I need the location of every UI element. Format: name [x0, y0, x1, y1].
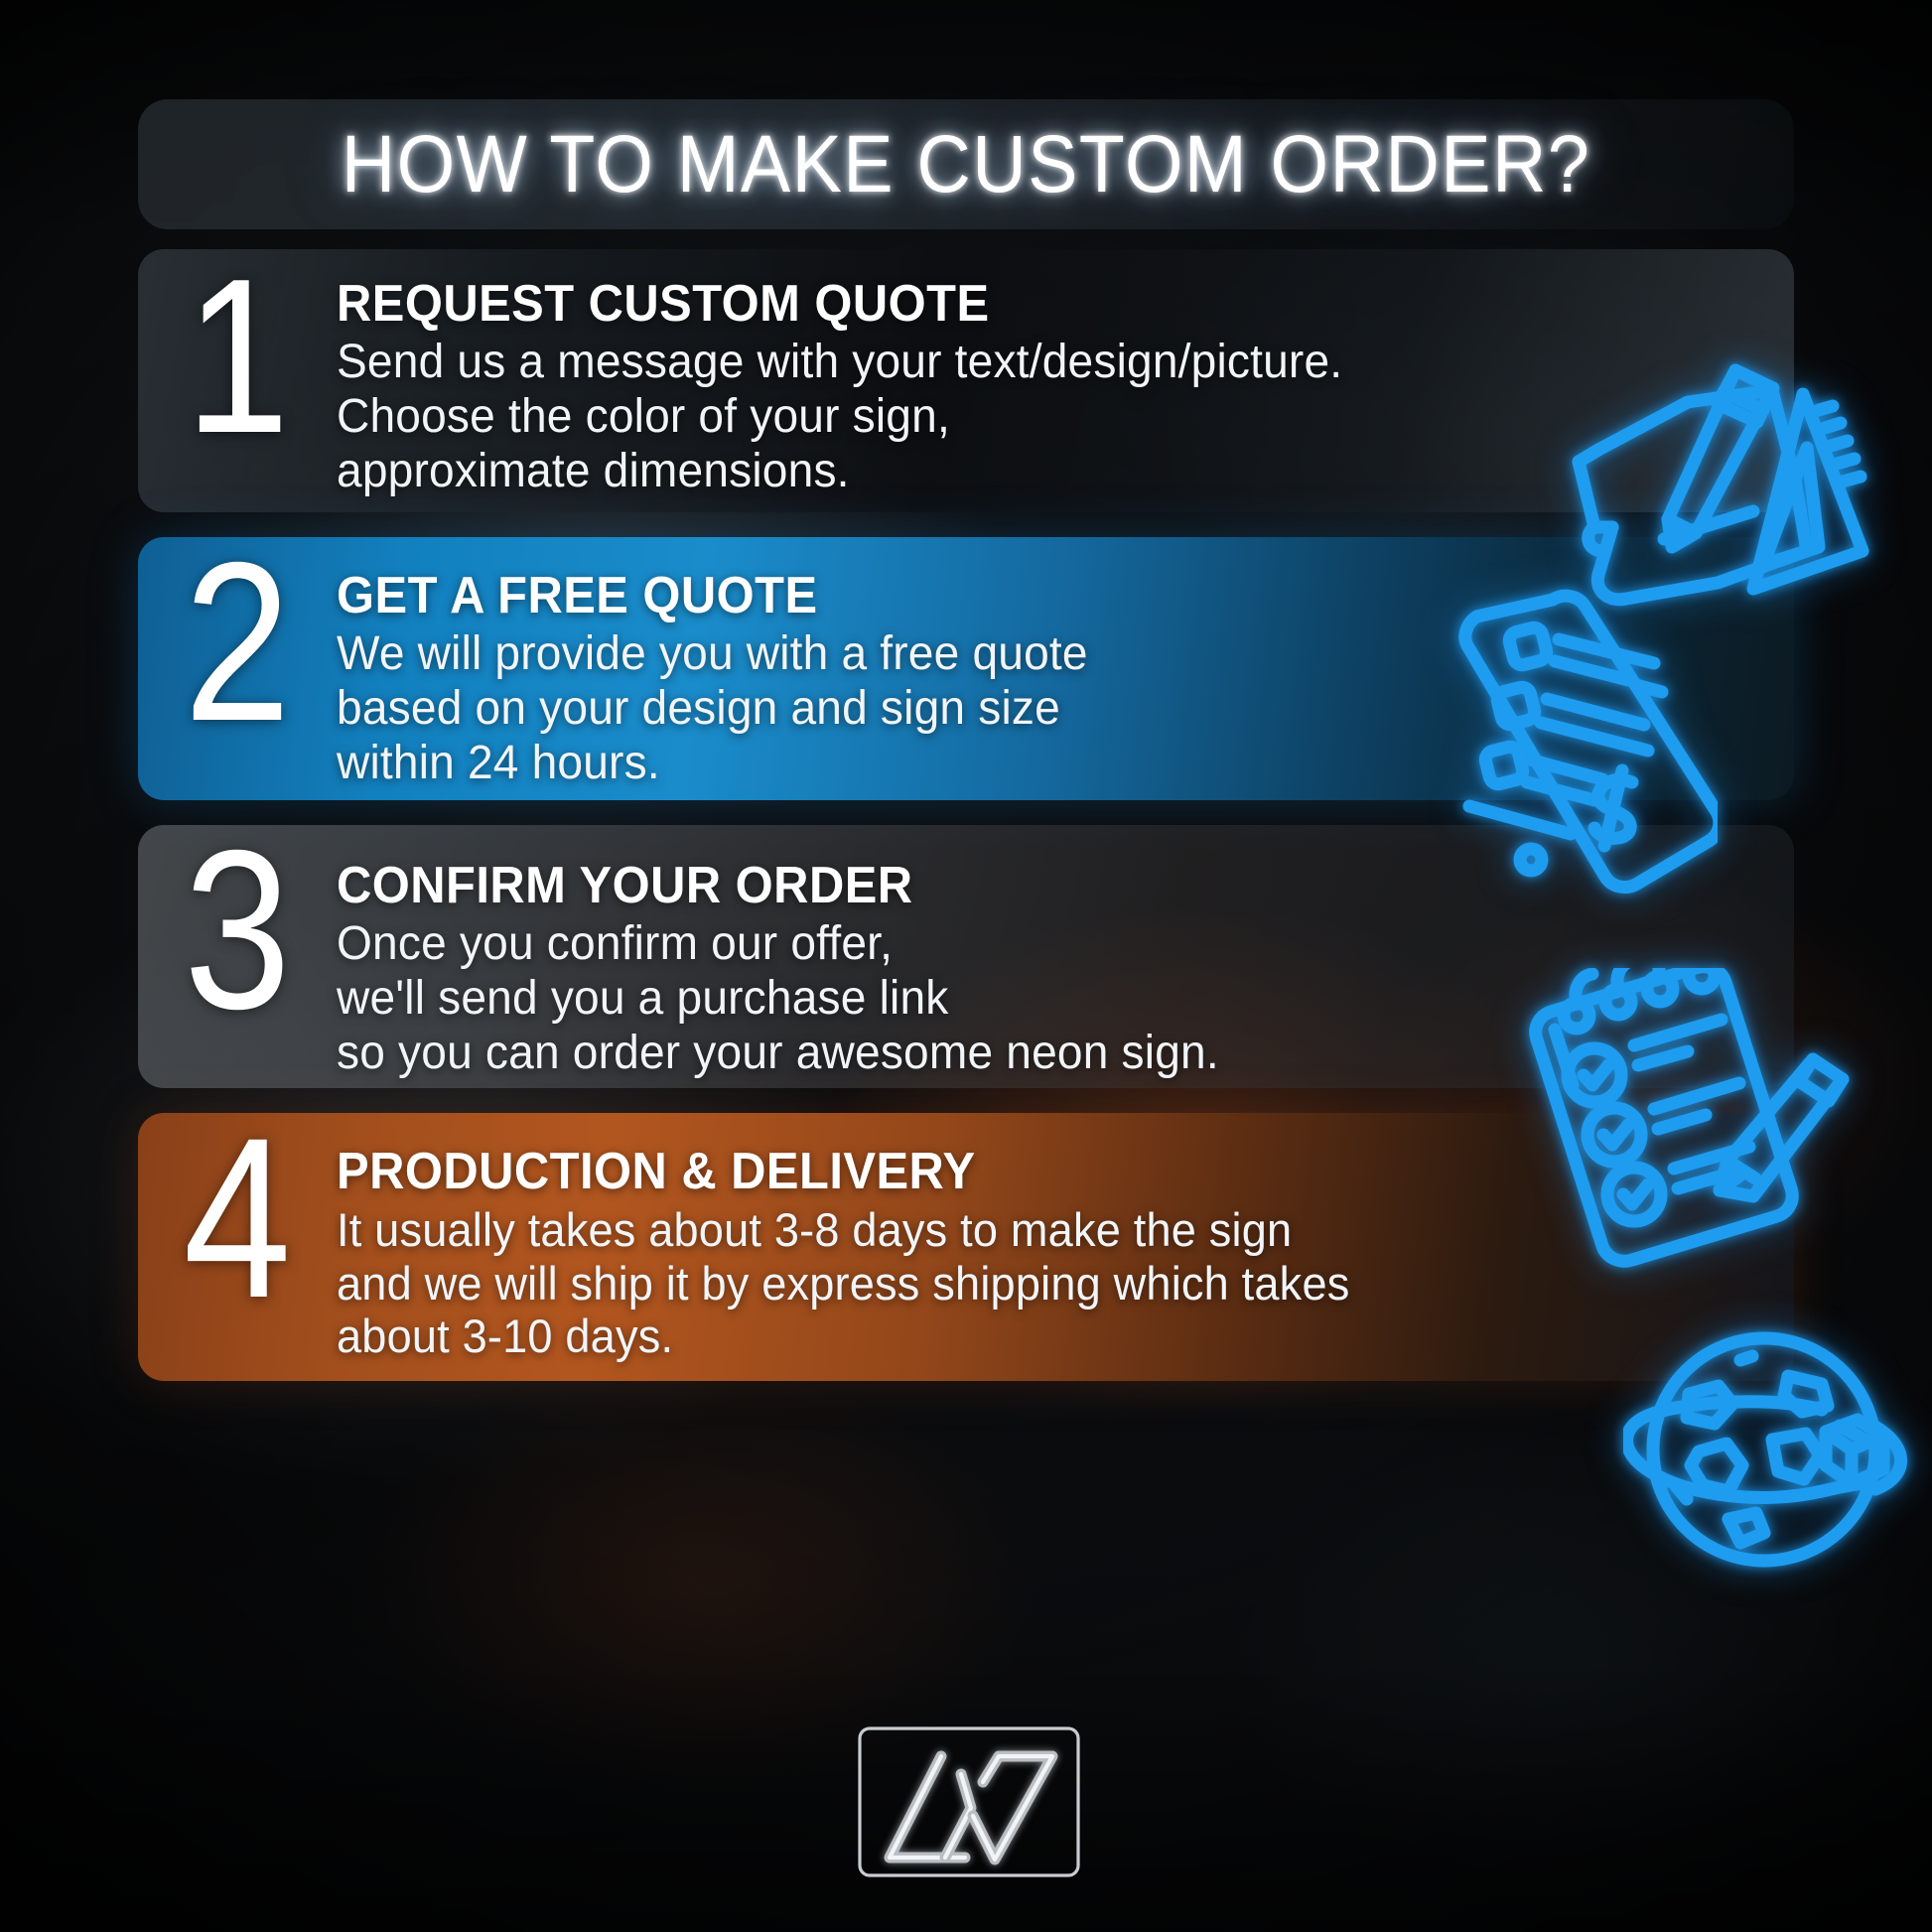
step-content-1: REQUEST CUSTOM QUOTE Send us a message w…: [337, 249, 1385, 498]
step-body-line: based on your design and sign size: [337, 682, 1088, 737]
step-body-line: Once you confirm our offer,: [337, 917, 1219, 972]
step-body-line: within 24 hours.: [337, 737, 1088, 791]
step-number-4: 4: [153, 1113, 322, 1323]
step-body-line: Send us a message with your text/design/…: [337, 336, 1342, 390]
step-content-2: GET A FREE QUOTE We will provide you wit…: [337, 537, 1119, 790]
step-body-1: Send us a message with your text/design/…: [337, 336, 1342, 498]
step-content-3: CONFIRM YOUR ORDER Once you confirm our …: [337, 825, 1256, 1080]
step-heading-2: GET A FREE QUOTE: [337, 569, 1072, 623]
page-title-card: HOW TO MAKE CUSTOM ORDER?: [138, 99, 1794, 229]
step-content-4: PRODUCTION & DELIVERY It usually takes a…: [337, 1113, 1392, 1363]
step-body-line: Choose the color of your sign,: [337, 390, 1342, 445]
step-heading-3: CONFIRM YOUR ORDER: [337, 859, 1200, 913]
step-number-2: 2: [153, 537, 322, 748]
step-body-line: approximate dimensions.: [337, 445, 1342, 499]
step-body-line: We will provide you with a free quote: [337, 627, 1088, 682]
infographic-page: HOW TO MAKE CUSTOM ORDER? 1 REQUEST CUST…: [0, 0, 1932, 1932]
step-body-4: It usually takes about 3-8 days to make …: [337, 1203, 1349, 1363]
step-heading-4: PRODUCTION & DELIVERY: [337, 1145, 1328, 1199]
step-body-line: and we will ship it by express shipping …: [337, 1257, 1349, 1311]
page-title: HOW TO MAKE CUSTOM ORDER?: [342, 118, 1590, 211]
step-body-line: so you can order your awesome neon sign.: [337, 1027, 1219, 1081]
step-body-line: It usually takes about 3-8 days to make …: [337, 1203, 1349, 1257]
step-card-2: 2 GET A FREE QUOTE We will provide you w…: [138, 537, 1794, 800]
step-body-line: we'll send you a purchase link: [337, 972, 1219, 1027]
step-number-1: 1: [153, 249, 322, 458]
step-card-1: 1 REQUEST CUSTOM QUOTE Send us a message…: [138, 249, 1794, 512]
step-number-3: 3: [153, 825, 322, 1035]
step-body-line: about 3-10 days.: [337, 1310, 1349, 1363]
step-body-3: Once you confirm our offer, we'll send y…: [337, 917, 1219, 1080]
step-heading-1: REQUEST CUSTOM QUOTE: [337, 277, 1321, 332]
step-card-3: 3 CONFIRM YOUR ORDER Once you confirm ou…: [138, 825, 1794, 1088]
neon-monogram-logo: [850, 1713, 1088, 1891]
step-card-4: 4 PRODUCTION & DELIVERY It usually takes…: [138, 1113, 1794, 1381]
step-body-2: We will provide you with a free quote ba…: [337, 627, 1088, 790]
